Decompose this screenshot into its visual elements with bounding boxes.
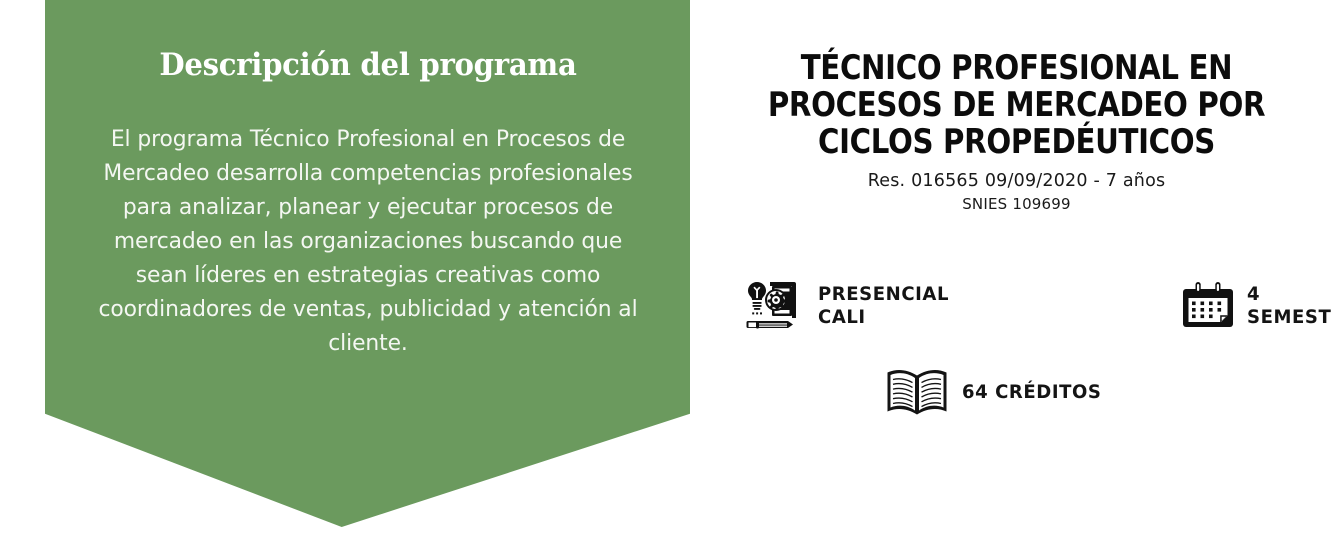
program-title-line-1: TÉCNICO PROFESIONAL EN [744,50,1288,87]
feature-modality-label: PRESENCIAL CALI [818,283,949,329]
feature-duration: 4 SEMESTRES [1183,281,1333,331]
snies-code: SNIES 109699 [700,194,1333,214]
open-book-icon [886,366,948,418]
program-title-line-2: PROCESOS DE MERCADEO POR [744,87,1288,124]
feature-modality: PRESENCIAL CALI [746,280,956,332]
feature-row-1: PRESENCIAL CALI [700,270,1333,342]
resolution-text: Res. 016565 09/09/2020 - 7 años [700,170,1333,193]
lightbulb-document-pencil-icon [746,280,802,332]
feature-credits: 64 CRÉDITOS [886,366,1109,418]
description-paragraph: El programa Técnico Profesional en Proce… [91,122,644,360]
program-details: TÉCNICO PROFESIONAL EN PROCESOS DE MERCA… [700,0,1333,535]
program-card: Descripción del programa El programa Téc… [0,0,1333,535]
feature-duration-label: 4 SEMESTRES [1247,283,1333,329]
calendar-icon [1183,281,1233,331]
description-banner-content: Descripción del programa El programa Téc… [45,0,690,360]
feature-credits-label: 64 CRÉDITOS [962,381,1102,404]
program-title-line-3: CICLOS PROPEDÉUTICOS [744,124,1288,161]
feature-row-2: 64 CRÉDITOS [700,356,1333,428]
program-title: TÉCNICO PROFESIONAL EN PROCESOS DE MERCA… [744,0,1288,161]
feature-list: PRESENCIAL CALI [700,270,1333,428]
description-heading: Descripción del programa [104,48,630,82]
description-banner: Descripción del programa El programa Téc… [45,0,690,527]
